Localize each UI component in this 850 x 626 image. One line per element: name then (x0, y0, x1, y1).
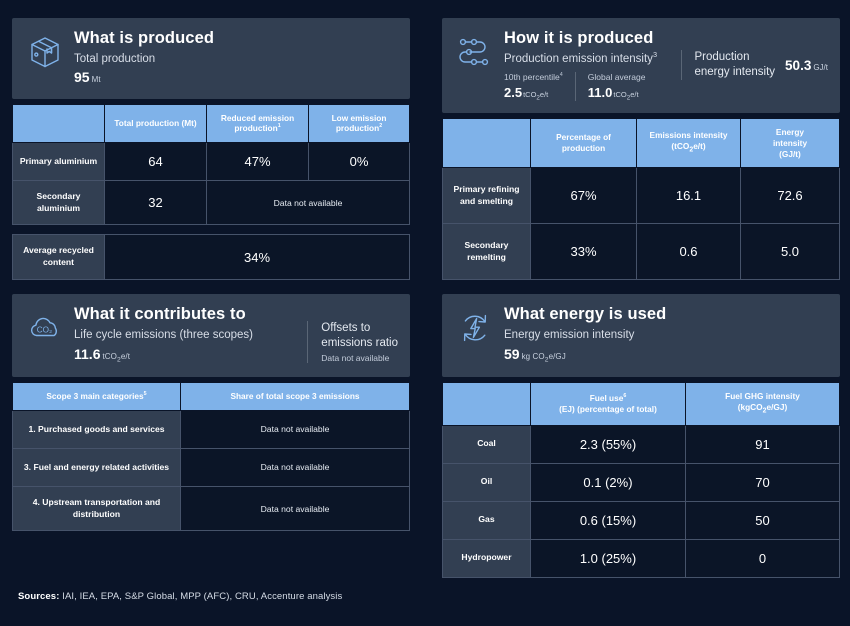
cell-upstream-transportation-share: Data not available (181, 486, 410, 530)
column-header-text: Percentage ofproduction (556, 132, 611, 153)
table-head: Total production (Mt) Reduced emission p… (13, 104, 410, 143)
column-header-text: Fuel GHG intensity(kgCO2e/GJ) (725, 391, 800, 412)
label-line-2: emissions ratio (321, 337, 398, 349)
production-energy-intensity-label: Production energy intensity (695, 50, 776, 80)
panel-title: How it is produced (504, 29, 677, 48)
table-header-row: Fuel use6 (EJ) (percentage of total) Fue… (443, 383, 840, 425)
column-header-fuel-use: Fuel use6 (EJ) (percentage of total) (531, 383, 686, 425)
co2-cloud-icon: CO₂ (24, 307, 66, 349)
panel-subtitle: Total production (74, 52, 398, 68)
panel-value: 59kg CO2e/GJ (504, 345, 828, 365)
metric-global-average: Global average 11.0tCO2e/t (575, 72, 658, 101)
cell-hydropower-ghg: 0 (686, 539, 840, 577)
panel-value-number: 11.6 (74, 346, 100, 362)
energy-cycle-icon (454, 307, 496, 349)
column-header-emissions-intensity: Emissions intensity(tCO2e/t) (637, 119, 741, 168)
column-header-scope3-categories: Scope 3 main categories5 (13, 383, 181, 411)
table-head: Fuel use6 (EJ) (percentage of total) Fue… (443, 383, 840, 425)
table-head: Percentage ofproduction Emissions intens… (443, 119, 840, 168)
panel-title: What is produced (74, 29, 398, 48)
table-row: Hydropower 1.0 (25%) 0 (443, 539, 840, 577)
column-header-text: Fuel use (590, 393, 624, 403)
column-header-blank (13, 104, 105, 143)
cell-average-recycled-content: 34% (105, 235, 410, 279)
table-body: Primary refining and smelting 67% 16.1 7… (443, 168, 840, 280)
table-row: 4. Upstream transportation and distribut… (13, 486, 410, 530)
production-energy-intensity-block: Production energy intensity 50.3GJ/t (681, 50, 829, 80)
column-header-reduced-emission: Reduced emission production1 (207, 104, 309, 143)
panel-subtitle-text: Production emission intensity (504, 53, 653, 65)
column-header-text: Reduced emission production (221, 113, 294, 134)
panel-how-it-is-produced: How it is produced Production emission i… (442, 18, 840, 280)
column-header-low-emission: Low emission production2 (309, 104, 410, 143)
column-header-percentage-of-production: Percentage ofproduction (531, 119, 637, 168)
metric-value: 2.5tCO2e/t (504, 85, 563, 102)
sources-label: Sources: (18, 591, 59, 602)
footnote-marker: 3 (653, 50, 657, 59)
metric-value: 11.0tCO2e/t (588, 85, 646, 102)
table-header-row: Percentage ofproduction Emissions intens… (443, 119, 840, 168)
column-header-subtext: (EJ) (percentage of total) (559, 404, 657, 414)
table-row: Gas 0.6 (15%) 50 (443, 501, 840, 539)
value-unit: GJ/t (813, 63, 828, 72)
row-label-hydropower: Hydropower (443, 539, 531, 577)
offsets-note: Data not available (321, 353, 398, 363)
table-head: Scope 3 main categories5 Share of total … (13, 383, 410, 411)
panel-value-unit: Mt (92, 75, 101, 84)
panel-value-number: 59 (504, 346, 520, 362)
cell-primary-emissions: 16.1 (637, 168, 741, 224)
row-label-average-recycled-content: Average recycled content (13, 235, 105, 279)
metric-value-unit: tCO2e/t (523, 90, 548, 99)
panel-value-unit: kg CO2e/GJ (522, 352, 566, 361)
panel-grid: What is produced Total production 95Mt T… (12, 18, 838, 578)
table-row: 1. Purchased goods and services Data not… (13, 410, 410, 448)
row-label-fuel-and-energy: 3. Fuel and energy related activities (13, 448, 181, 486)
aluminium-factsheet-page: What is produced Total production 95Mt T… (0, 0, 850, 626)
panel-header-contributes: CO₂ What it contributes to Life cycle em… (12, 294, 410, 377)
table-row: Primary refining and smelting 67% 16.1 7… (443, 168, 840, 224)
row-label-upstream-transportation: 4. Upstream transportation and distribut… (13, 486, 181, 530)
row-label-gas: Gas (443, 501, 531, 539)
table-energy-use: Fuel use6 (EJ) (percentage of total) Fue… (442, 382, 840, 577)
table-production: Total production (Mt) Reduced emission p… (12, 104, 410, 226)
column-header-fuel-ghg-intensity: Fuel GHG intensity(kgCO2e/GJ) (686, 383, 840, 425)
table-row: Oil 0.1 (2%) 70 (443, 463, 840, 501)
table-row: Average recycled content 34% (13, 235, 410, 279)
column-header-energy-intensity: Energyintensity(GJ/t) (741, 119, 840, 168)
footnote-marker: 6 (623, 393, 626, 399)
offsets-to-emissions-ratio-block: Offsets to emissions ratio Data not avai… (307, 321, 398, 363)
footnote-marker: 1 (278, 124, 281, 130)
panel-subtitle: Energy emission intensity (504, 328, 828, 344)
process-flow-icon (454, 31, 496, 73)
column-header-blank (443, 119, 531, 168)
panel-value: 95Mt (74, 68, 398, 86)
column-header-share-of-total: Share of total scope 3 emissions (181, 383, 410, 411)
sources-line: Sources: IAI, IEA, EPA, S&P Global, MPP … (18, 591, 342, 602)
metric-label: 10th percentile4 (504, 72, 563, 83)
cell-secondary-na: Data not available (207, 181, 410, 225)
label-line-2: energy intensity (695, 66, 776, 78)
cell-primary-percentage: 67% (531, 168, 637, 224)
box-icon (24, 31, 66, 73)
column-header-text: Emissions intensity(tCO2e/t) (650, 130, 728, 151)
table-how-produced: Percentage ofproduction Emissions intens… (442, 118, 840, 280)
panel-what-energy-is-used: What energy is used Energy emission inte… (442, 294, 840, 577)
cell-coal-fuel-use: 2.3 (55%) (531, 425, 686, 463)
column-header-text: Energyintensity(GJ/t) (773, 127, 807, 159)
label-line-1: Production (695, 51, 750, 63)
header-metrics: 10th percentile4 2.5tCO2e/t Global avera… (504, 72, 677, 101)
metric-label: Global average (588, 72, 646, 83)
cell-fuel-and-energy-share: Data not available (181, 448, 410, 486)
row-label-primary-aluminium: Primary aluminium (13, 143, 105, 181)
cell-secondary-emissions: 0.6 (637, 224, 741, 280)
panel-header-how: How it is produced Production emission i… (442, 18, 840, 113)
panel-value: 11.6tCO2e/t (74, 345, 303, 365)
cell-primary-total: 64 (105, 143, 207, 181)
cell-coal-ghg: 91 (686, 425, 840, 463)
column-header-text: Total production (Mt) (114, 118, 196, 128)
table-row: 3. Fuel and energy related activities Da… (13, 448, 410, 486)
cell-oil-fuel-use: 0.1 (2%) (531, 463, 686, 501)
cell-hydropower-fuel-use: 1.0 (25%) (531, 539, 686, 577)
column-header-text: Share of total scope 3 emissions (230, 391, 359, 401)
table-body: Average recycled content 34% (13, 235, 410, 279)
row-label-purchased-goods: 1. Purchased goods and services (13, 410, 181, 448)
panel-subtitle: Life cycle emissions (three scopes) (74, 328, 303, 344)
table-body: Coal 2.3 (55%) 91 Oil 0.1 (2%) 70 Gas 0.… (443, 425, 840, 577)
panel-title: What energy is used (504, 305, 828, 324)
table-average-recycled-content: Average recycled content 34% (12, 234, 410, 279)
panel-what-is-produced: What is produced Total production 95Mt T… (12, 18, 410, 280)
cell-primary-energy: 72.6 (741, 168, 840, 224)
metric-value-number: 2.5 (504, 85, 522, 100)
table-scope3: Scope 3 main categories5 Share of total … (12, 382, 410, 531)
table-body: Primary aluminium 64 47% 0% Secondary al… (13, 143, 410, 225)
cell-primary-low: 0% (309, 143, 410, 181)
panel-header-produced: What is produced Total production 95Mt (12, 18, 410, 99)
panel-title: What it contributes to (74, 305, 303, 324)
row-label-secondary-aluminium: Secondary aluminium (13, 181, 105, 225)
svg-text:CO₂: CO₂ (37, 326, 52, 335)
table-header-row: Total production (Mt) Reduced emission p… (13, 104, 410, 143)
cell-gas-ghg: 50 (686, 501, 840, 539)
row-label-coal: Coal (443, 425, 531, 463)
table-body: 1. Purchased goods and services Data not… (13, 410, 410, 530)
production-energy-intensity-value: 50.3GJ/t (785, 58, 828, 73)
cell-secondary-energy: 5.0 (741, 224, 840, 280)
panel-subtitle: Production emission intensity3 (504, 52, 677, 68)
cell-gas-fuel-use: 0.6 (15%) (531, 501, 686, 539)
column-header-total-production: Total production (Mt) (105, 104, 207, 143)
offsets-label: Offsets to emissions ratio (321, 321, 398, 351)
panel-what-it-contributes-to: CO₂ What it contributes to Life cycle em… (12, 294, 410, 577)
table-header-row: Scope 3 main categories5 Share of total … (13, 383, 410, 411)
footnote-marker: 5 (144, 391, 147, 397)
panel-value-number: 95 (74, 69, 90, 85)
cell-purchased-goods-share: Data not available (181, 410, 410, 448)
sources-text: IAI, IEA, EPA, S&P Global, MPP (AFC), CR… (59, 591, 342, 602)
cell-secondary-percentage: 33% (531, 224, 637, 280)
footnote-marker: 4 (560, 73, 563, 79)
metric-value-number: 11.0 (588, 85, 613, 100)
table-row: Secondary aluminium 32 Data not availabl… (13, 181, 410, 225)
table-row: Primary aluminium 64 47% 0% (13, 143, 410, 181)
column-header-text: Scope 3 main categories (46, 391, 143, 401)
table-row: Secondary remelting 33% 0.6 5.0 (443, 224, 840, 280)
row-label-oil: Oil (443, 463, 531, 501)
panel-value-unit: tCO2e/t (102, 352, 130, 361)
metric-label-text: 10th percentile (504, 72, 560, 82)
column-header-blank (443, 383, 531, 425)
label-line-1: Offsets to (321, 322, 370, 334)
panel-header-energy: What energy is used Energy emission inte… (442, 294, 840, 377)
metric-value-unit: tCO2e/t (613, 90, 638, 99)
cell-primary-reduced: 47% (207, 143, 309, 181)
metric-10th-percentile: 10th percentile4 2.5tCO2e/t (504, 72, 575, 101)
table-row: Coal 2.3 (55%) 91 (443, 425, 840, 463)
row-label-primary-refining-and-smelting: Primary refining and smelting (443, 168, 531, 224)
footnote-marker: 2 (379, 124, 382, 130)
cell-oil-ghg: 70 (686, 463, 840, 501)
cell-secondary-total: 32 (105, 181, 207, 225)
value-number: 50.3 (785, 58, 811, 73)
row-label-secondary-remelting: Secondary remelting (443, 224, 531, 280)
